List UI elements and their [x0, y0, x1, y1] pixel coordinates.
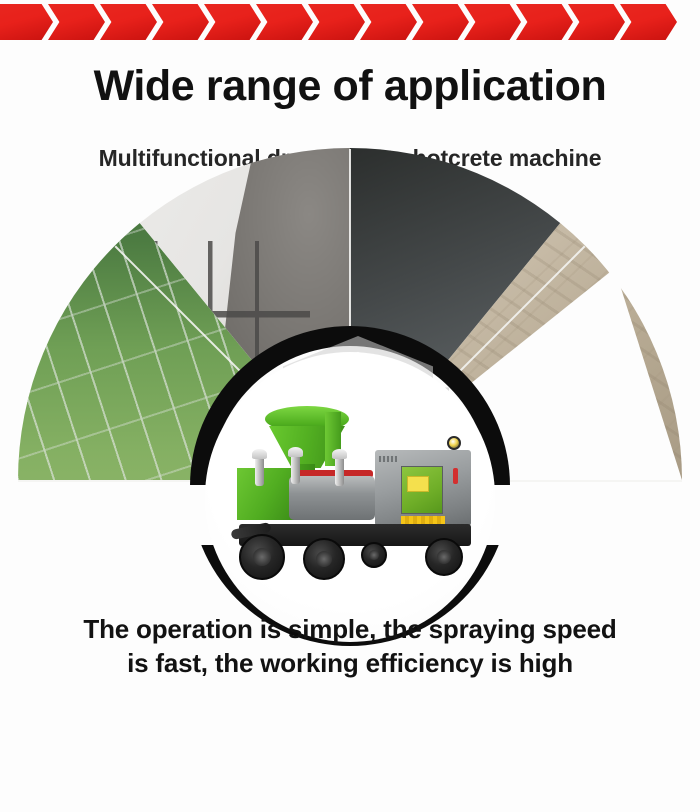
shotcrete-machine-photo — [229, 406, 475, 586]
chevron-arrow-icon — [464, 4, 521, 40]
machine-cabinet-vents — [379, 456, 397, 462]
chevron-arrow-icon — [0, 4, 53, 40]
machine-nozzle — [335, 456, 344, 486]
chevron-arrow-icon — [100, 4, 157, 40]
chevron-arrow-icon — [360, 4, 417, 40]
chevron-arrow-icon — [568, 4, 625, 40]
chevron-arrow-icon — [204, 4, 261, 40]
machine-wheel — [425, 538, 463, 576]
chevron-arrow-icon — [152, 4, 209, 40]
machine-warning-label — [407, 476, 429, 492]
product-photo-circle — [205, 352, 495, 642]
footer-caption-line-1: The operation is simple, the spraying sp… — [0, 612, 700, 646]
footer-caption-line-2: is fast, the working efficiency is high — [0, 646, 700, 680]
footer-caption: The operation is simple, the spraying sp… — [0, 612, 700, 681]
machine-left-green-block — [237, 468, 295, 520]
machine-hazard-strip — [401, 516, 445, 524]
chevron-arrow-icon — [516, 4, 573, 40]
chevron-arrow-icon — [256, 4, 313, 40]
chevron-arrow-banner — [0, 4, 700, 40]
chevron-row — [0, 4, 672, 40]
chevron-arrow-icon — [308, 4, 365, 40]
machine-pressure-gauge-icon — [447, 436, 461, 450]
machine-wheel — [239, 534, 285, 580]
machine-wheel — [303, 538, 345, 580]
chevron-arrow-icon — [412, 4, 469, 40]
chevron-arrow-icon — [620, 4, 677, 40]
machine-emergency-button — [453, 468, 458, 484]
page-title: Wide range of application — [0, 62, 700, 111]
machine-rotor-drum — [289, 476, 375, 520]
machine-nozzle — [255, 456, 264, 486]
machine-wheel — [361, 542, 387, 568]
chevron-arrow-icon — [48, 4, 105, 40]
machine-nozzle — [291, 454, 300, 484]
